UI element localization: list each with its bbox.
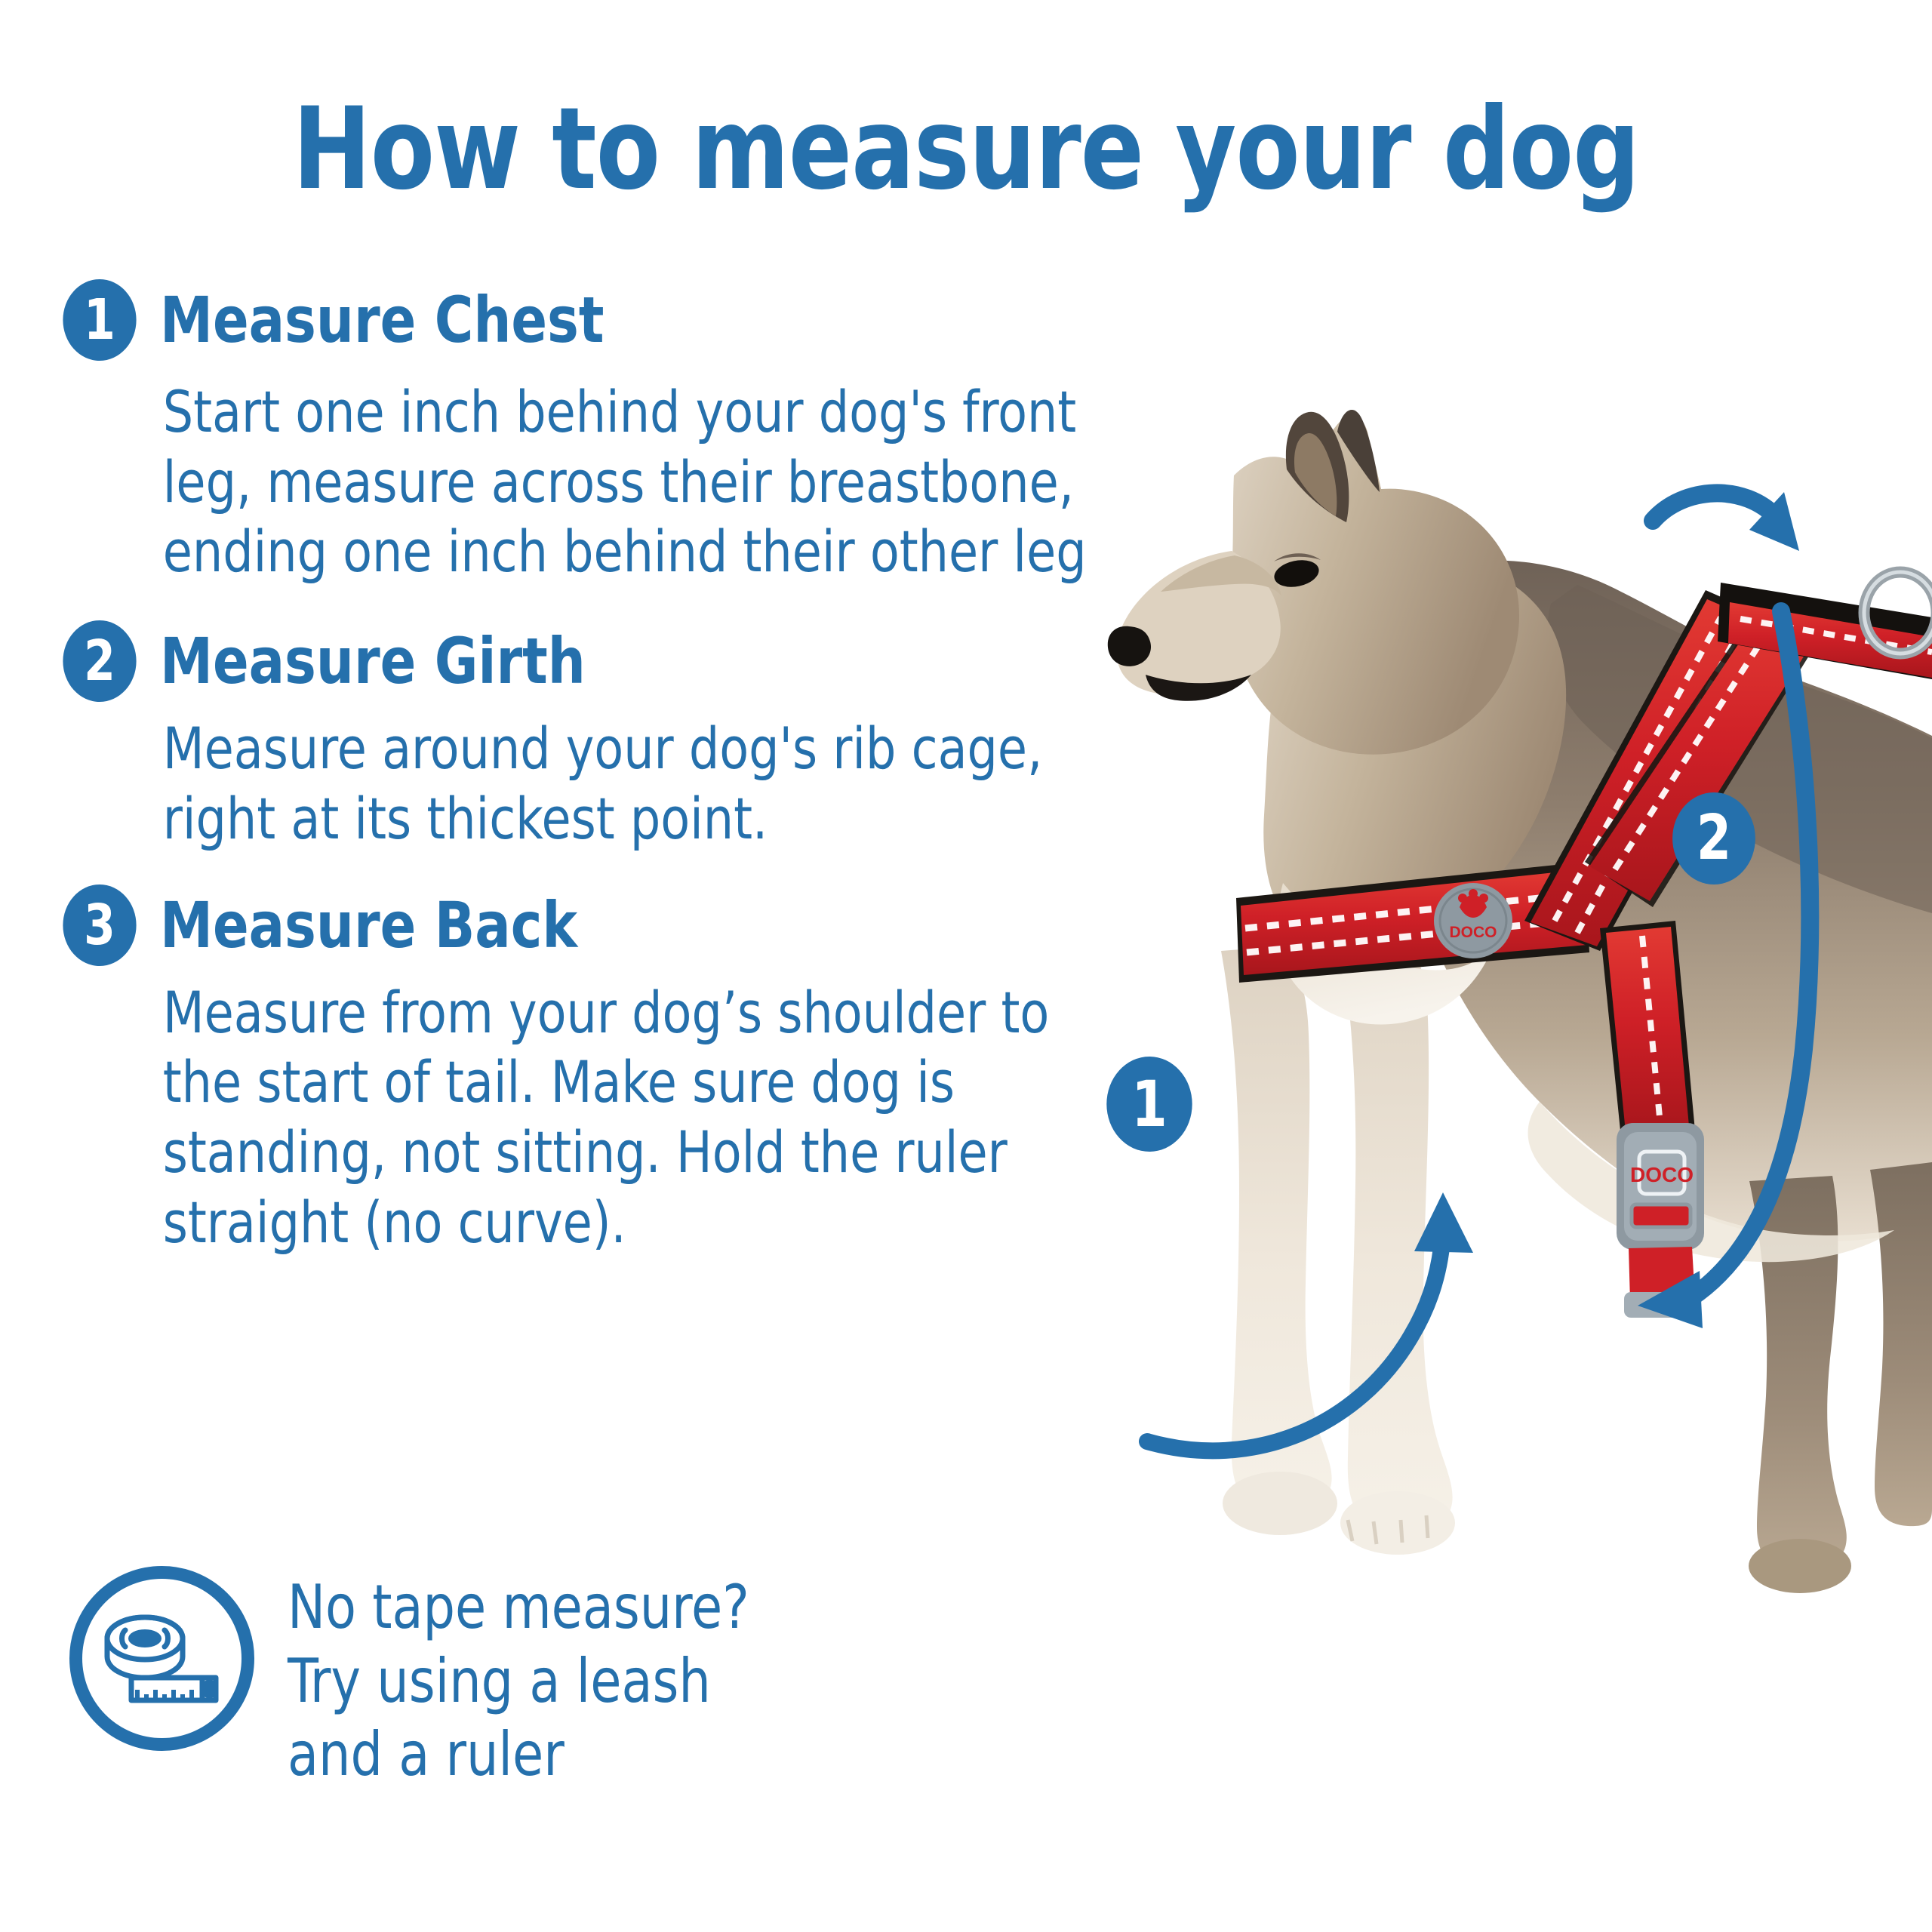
step-3-body: Measure from your dog’s shoulder to the … <box>0 966 1095 1258</box>
step-1-header: 1 Measure Chest <box>0 279 1177 361</box>
step-2: 2 Measure Girth Measure around your dog'… <box>0 620 1177 854</box>
callout-badge-2: 2 <box>1672 792 1755 884</box>
tip-text: No tape measure? Try using a leash and a… <box>288 1566 749 1792</box>
dog-hind-paw <box>1749 1539 1851 1593</box>
tape-measure-glyph <box>98 1610 226 1708</box>
dog-paw-1 <box>1340 1491 1455 1555</box>
step-3-title: Measure Back <box>160 894 577 957</box>
step-3-badge: 3 <box>63 884 136 966</box>
step-1-body: Start one inch behind your dog's front l… <box>0 361 1095 587</box>
infographic-root: How to measure your dog <box>0 0 1932 1932</box>
tape-measure-icon <box>69 1566 254 1751</box>
arrow-back-hook <box>1653 492 1799 551</box>
dog-paw-2 <box>1223 1472 1337 1535</box>
step-2-title: Measure Girth <box>160 629 586 693</box>
svg-text:DOCO: DOCO <box>1630 1163 1694 1186</box>
harness-logo-patch: DOCO <box>1434 883 1512 958</box>
step-2-header: 2 Measure Girth <box>0 620 1177 702</box>
step-1-title: Measure Chest <box>160 288 605 352</box>
step-3-header: 3 Measure Back <box>0 884 1177 966</box>
dog-illustration: DOCO DOCO <box>1057 325 1932 1932</box>
page-title: How to measure your dog <box>77 91 1854 210</box>
step-2-body: Measure around your dog's rib cage, righ… <box>0 702 1095 854</box>
svg-text:DOCO: DOCO <box>1450 924 1497 941</box>
step-2-badge: 2 <box>63 620 136 702</box>
tip-block: No tape measure? Try using a leash and a… <box>69 1566 784 1792</box>
step-3: 3 Measure Back Measure from your dog’s s… <box>0 884 1177 1258</box>
step-1: 1 Measure Chest Start one inch behind yo… <box>0 279 1177 587</box>
harness-buckle: DOCO <box>1617 1123 1704 1250</box>
steps-list: 1 Measure Chest Start one inch behind yo… <box>0 279 1177 1257</box>
dog-photo: DOCO DOCO <box>1057 325 1932 1932</box>
dog-hind-leg-far <box>1870 1162 1932 1526</box>
step-1-badge: 1 <box>63 279 136 361</box>
